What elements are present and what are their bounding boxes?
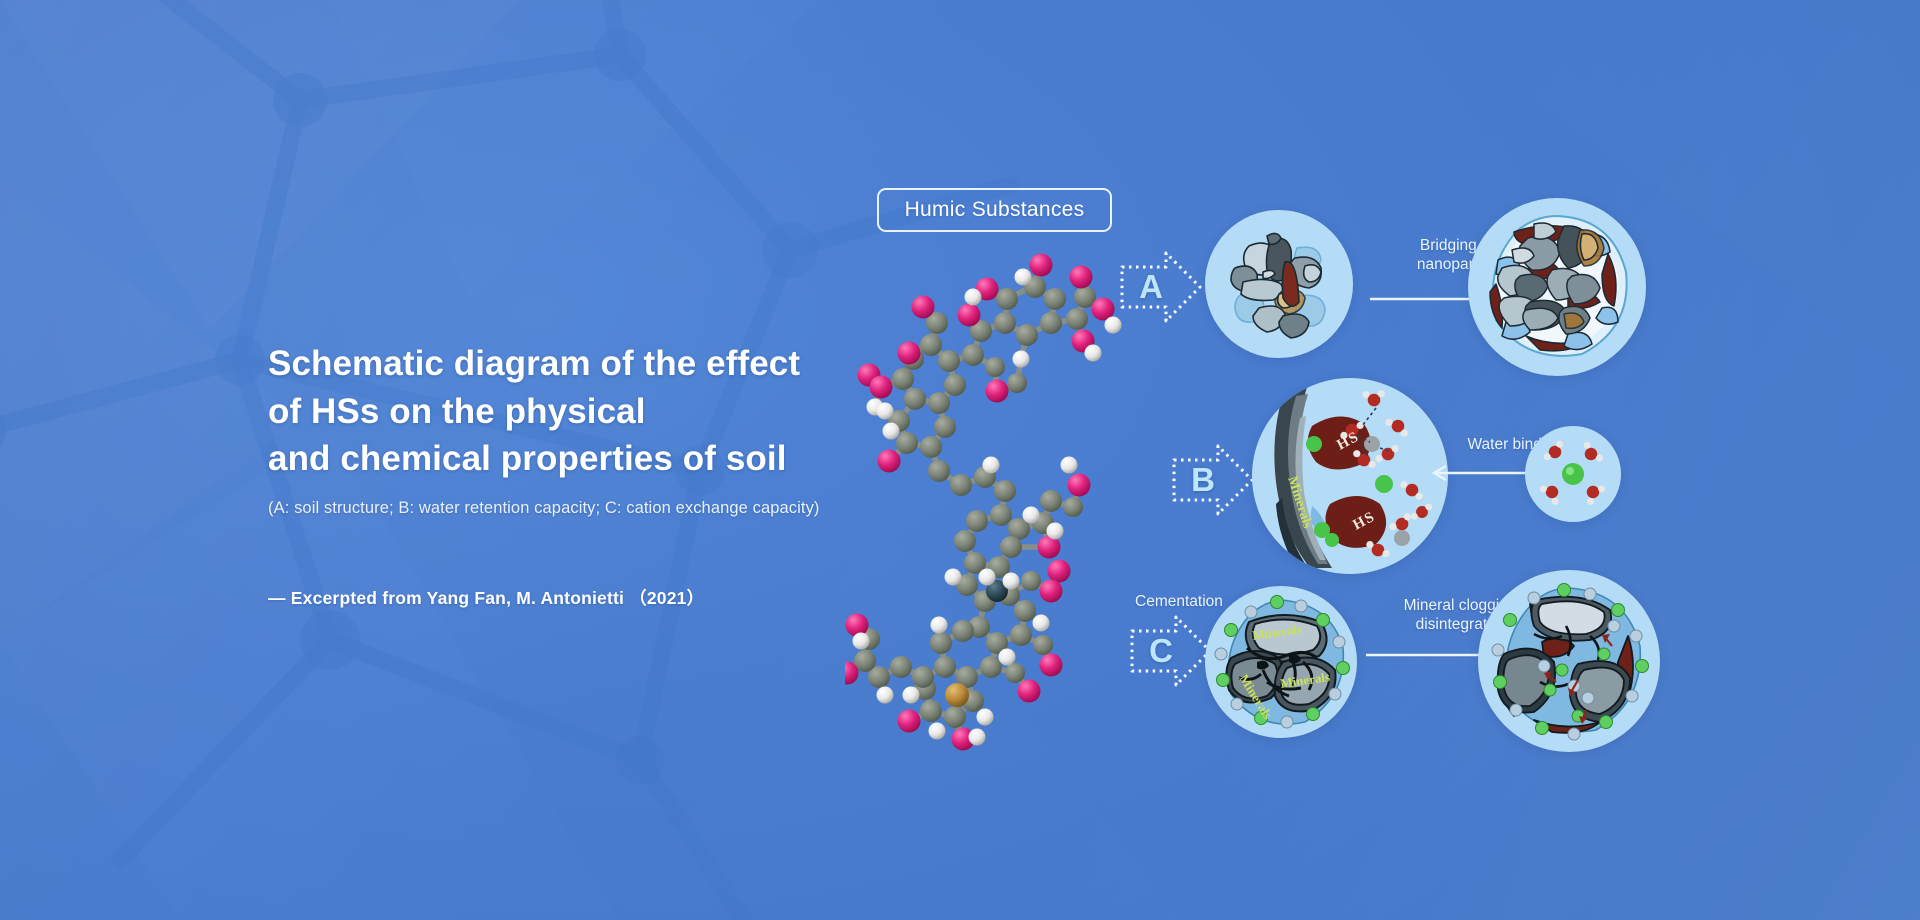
poster-canvas: Schematic diagram of the effect of HSs o… bbox=[0, 0, 1920, 920]
marker-a-letter: A bbox=[1124, 250, 1178, 324]
marker-a: A bbox=[1118, 250, 1204, 324]
water-retention-hs-minerals[interactable]: HS HS Minerals bbox=[1252, 378, 1448, 574]
marker-c: C bbox=[1128, 614, 1214, 688]
headline-line-1: Schematic diagram of the effect bbox=[268, 344, 800, 383]
humic-substances-label: Humic Substances bbox=[905, 198, 1085, 222]
mineral-clogging-cementation[interactable]: Minerals Minerals Minerals bbox=[1205, 586, 1357, 738]
soil-aggregate-loose[interactable] bbox=[1205, 210, 1353, 358]
headline-line-3: and chemical properties of soil bbox=[268, 439, 787, 478]
soil-aggregate-bridged[interactable] bbox=[1468, 198, 1646, 376]
marker-b-letter: B bbox=[1176, 443, 1230, 517]
cation-exchange-disintegrated[interactable] bbox=[1478, 570, 1660, 752]
marker-c-letter: C bbox=[1134, 614, 1188, 688]
marker-b: B bbox=[1170, 443, 1256, 517]
headline-line-2: of HSs on the physical bbox=[268, 392, 646, 431]
hydrated-cation[interactable] bbox=[1525, 426, 1621, 522]
